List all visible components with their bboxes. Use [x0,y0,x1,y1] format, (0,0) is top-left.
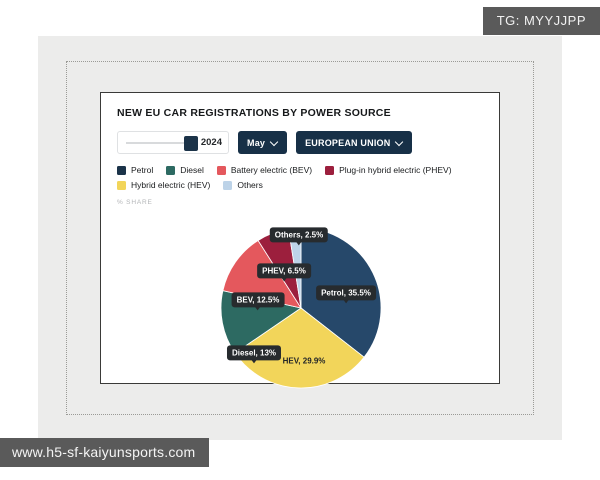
legend-swatch-icon [217,166,226,175]
legend-item-label: Others [237,180,263,190]
pie-slice-label: Petrol, 35.5% [316,285,376,300]
legend-item[interactable]: Others [223,180,263,190]
legend-swatch-icon [166,166,175,175]
pie-slice-label: Diesel, 13% [227,345,281,360]
legend-item[interactable]: Hybrid electric (HEV) [117,180,210,190]
chart-mat: NEW EU CAR REGISTRATIONS BY POWER SOURCE… [38,36,562,440]
legend-item-label: Plug-in hybrid electric (PHEV) [339,165,451,175]
dotted-frame: NEW EU CAR REGISTRATIONS BY POWER SOURCE… [66,61,534,415]
legend-item-label: Battery electric (BEV) [231,165,312,175]
controls-row: 2024 May EUROPEAN UNION [117,131,485,154]
year-slider[interactable]: 2024 [117,131,229,154]
chevron-down-icon [396,139,403,146]
region-dropdown[interactable]: EUROPEAN UNION [296,131,412,154]
page-root: NEW EU CAR REGISTRATIONS BY POWER SOURCE… [0,0,600,480]
region-dropdown-label: EUROPEAN UNION [305,138,390,148]
slider-handle-icon[interactable] [184,136,198,151]
legend-item[interactable]: Battery electric (BEV) [217,165,312,175]
tg-watermark-badge: TG: MYYJJPP [483,7,600,35]
month-dropdown[interactable]: May [238,131,287,154]
legend-item-label: Petrol [131,165,153,175]
pie-slice-label: PHEV, 6.5% [257,263,311,278]
legend-swatch-icon [325,166,334,175]
legend-swatch-icon [117,166,126,175]
legend-item[interactable]: Plug-in hybrid electric (PHEV) [325,165,451,175]
legend-item-label: Hybrid electric (HEV) [131,180,210,190]
pie-slice-label: Others, 2.5% [270,227,328,242]
month-dropdown-label: May [247,138,265,148]
legend-swatch-icon [117,181,126,190]
chart-card: NEW EU CAR REGISTRATIONS BY POWER SOURCE… [100,92,500,384]
pie-slice-label: HEV, 29.9% [278,353,331,368]
legend-swatch-icon [223,181,232,190]
pie-chart: Petrol, 35.5%HEV, 29.9%Diesel, 13%BEV, 1… [117,208,485,408]
legend-item-label: Diesel [180,165,204,175]
slider-year-value: 2024 [201,137,222,148]
pie-slice-label: BEV, 12.5% [232,292,285,307]
page-title: NEW EU CAR REGISTRATIONS BY POWER SOURCE [117,107,485,119]
chevron-down-icon [271,139,278,146]
legend-item[interactable]: Petrol [117,165,153,175]
legend-item[interactable]: Diesel [166,165,204,175]
url-watermark-badge: www.h5-sf-kaiyunsports.com [0,438,209,467]
axis-note: % SHARE [117,199,485,206]
chart-card-inner: NEW EU CAR REGISTRATIONS BY POWER SOURCE… [117,107,485,373]
chart-legend: PetrolDieselBattery electric (BEV)Plug-i… [117,165,467,190]
